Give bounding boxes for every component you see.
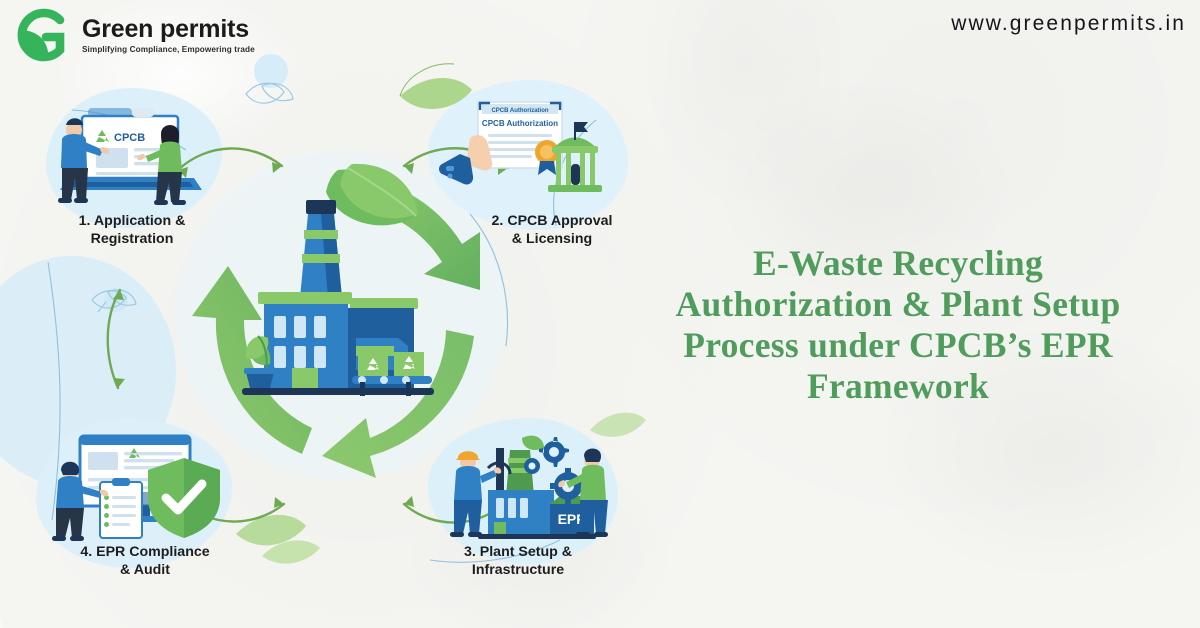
recycle-box-2 xyxy=(394,352,424,376)
accent-dot-blob-1 xyxy=(254,54,288,88)
step-1-label: 1. Application & Registration xyxy=(32,212,232,248)
main-roof xyxy=(258,292,352,304)
green-g-leaf-icon xyxy=(6,4,80,66)
step-4-line1: 4. EPR Compliance xyxy=(80,544,209,560)
step-2-line1: 2. CPCB Approval xyxy=(492,213,613,229)
gear-icon-small xyxy=(524,458,540,474)
svg-text:CPCB: CPCB xyxy=(114,132,145,144)
headline-line-3: Process under CPCB’s EPR xyxy=(600,325,1196,366)
step-4-line2: & Audit xyxy=(40,561,250,579)
svg-text:CPCB Authorization: CPCB Authorization xyxy=(482,119,558,128)
logo-title: Green permits xyxy=(82,16,255,42)
step-4-label: 4. EPR Compliance & Audit xyxy=(40,543,250,579)
page-title: E-Waste Recycling Authorization & Plant … xyxy=(600,243,1196,407)
factory-ground xyxy=(242,388,434,395)
logo-tagline: Simplifying Compliance, Empowering trade xyxy=(82,45,255,54)
hard-hat xyxy=(456,451,480,460)
headline-line-1: E-Waste Recycling xyxy=(600,243,1196,284)
verified-shield-icon xyxy=(148,458,220,538)
site-url[interactable]: www.greenpermits.in xyxy=(951,12,1186,36)
step-4-illustration xyxy=(44,424,230,546)
certificate-title: CPCB Authorization xyxy=(491,108,548,114)
gear-icon xyxy=(539,437,569,467)
headline-line-2: Authorization & Plant Setup xyxy=(600,284,1196,325)
recycling-factory-illustration xyxy=(222,186,452,408)
step-3-line1: 3. Plant Setup & xyxy=(464,544,572,560)
step-3-line2: Infrastructure xyxy=(418,561,618,579)
clipboard-checklist xyxy=(100,478,142,538)
hand-icon xyxy=(439,135,492,184)
brand-logo[interactable]: Green permits Simplifying Compliance, Em… xyxy=(6,4,255,66)
recycle-box-1 xyxy=(358,354,388,376)
accent-dot-blob-2 xyxy=(104,288,128,312)
step-3-label: 3. Plant Setup & Infrastructure xyxy=(418,543,618,579)
url-bar xyxy=(88,108,132,117)
step-1-line2: Registration xyxy=(32,230,232,248)
step-1-line1: 1. Application & xyxy=(79,213,186,229)
headline-line-4: Framework xyxy=(600,366,1196,407)
factory-door xyxy=(292,368,318,388)
step-2-illustration: CPCB Authorization CPCB Authorization xyxy=(434,90,622,214)
gold-seal xyxy=(535,140,559,175)
step-3-illustration: EPR xyxy=(438,424,620,544)
chimney-cap xyxy=(306,200,336,214)
step-1-illustration: CPCB xyxy=(44,92,222,214)
side-roof xyxy=(350,298,418,309)
